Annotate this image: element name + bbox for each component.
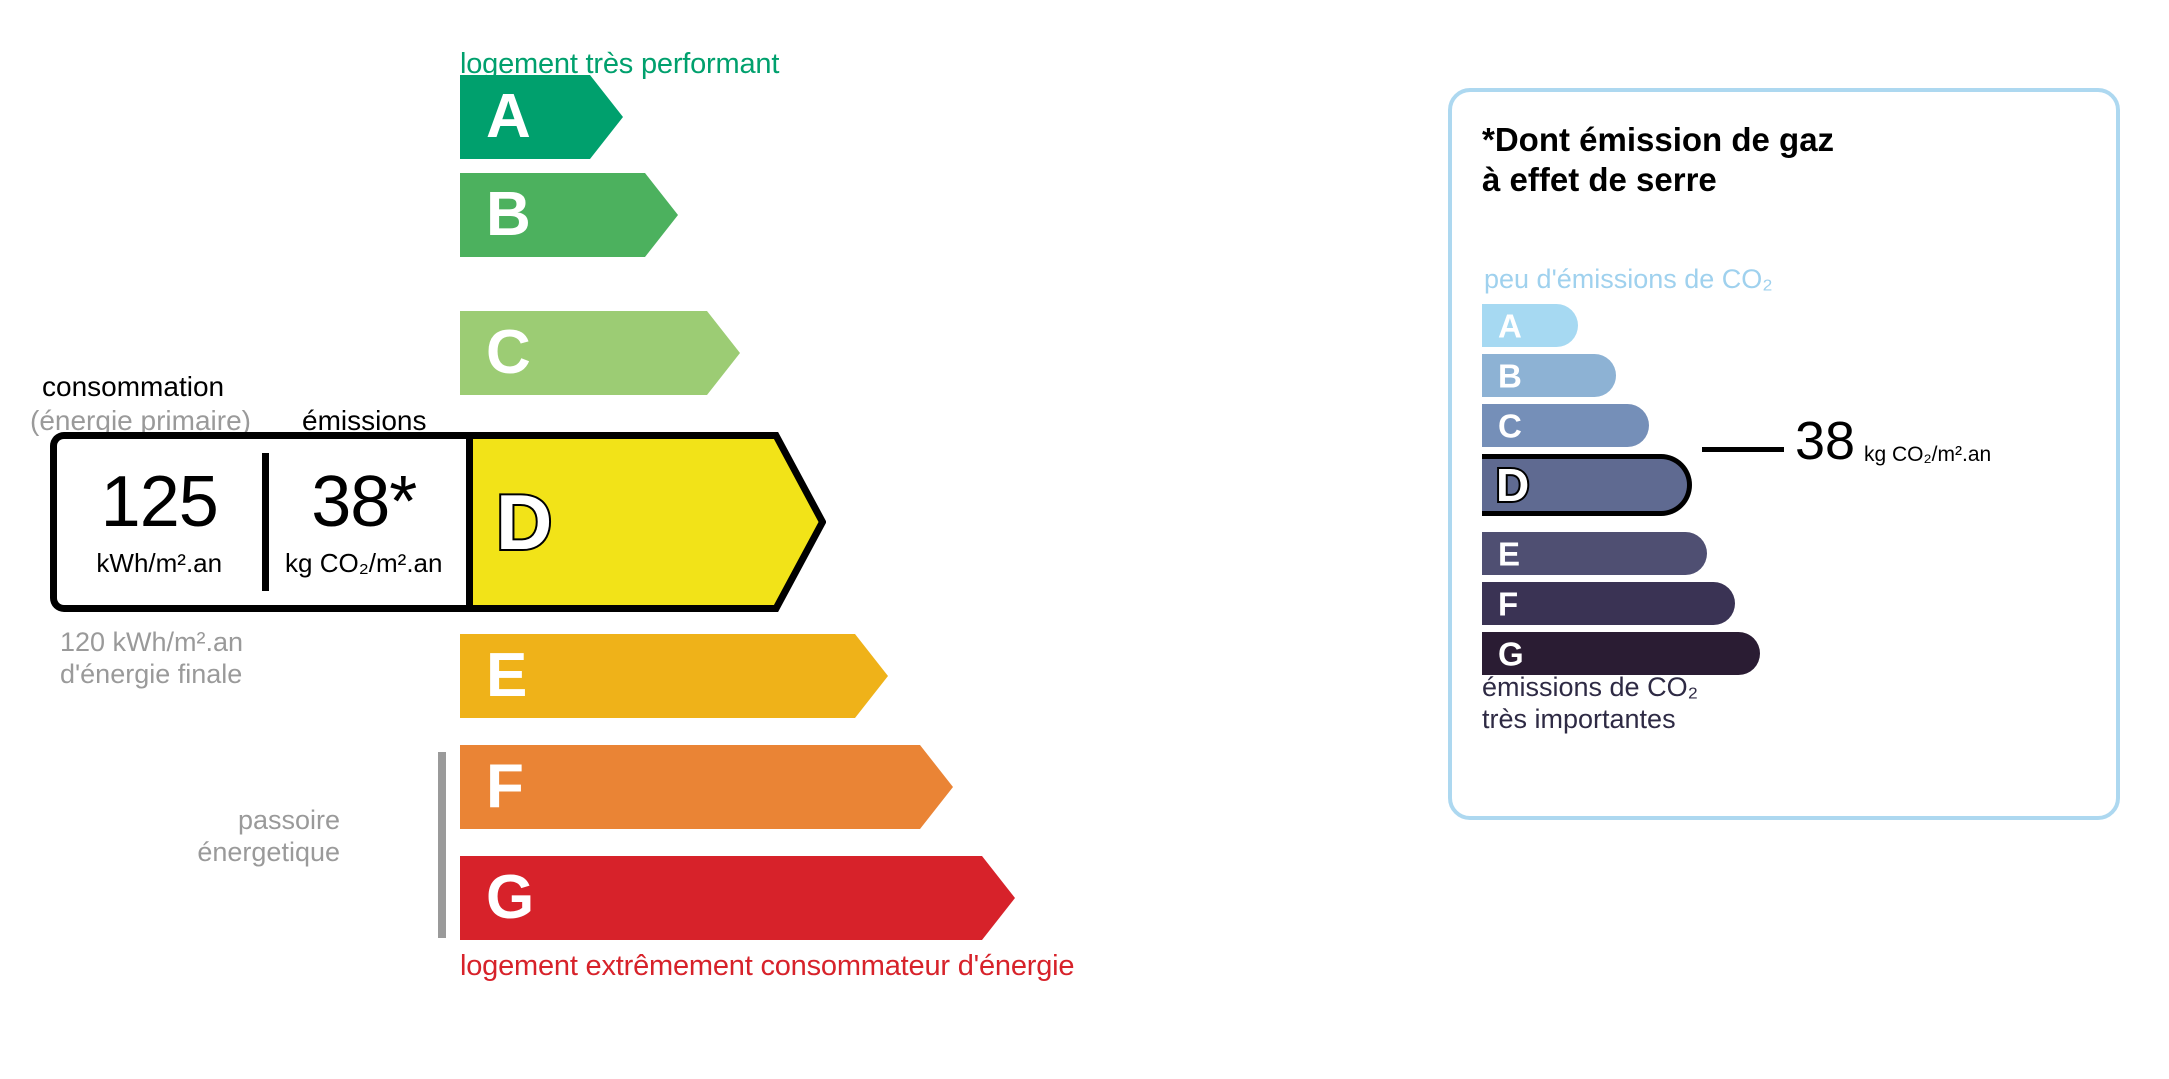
energy-performance-chart: logement très performant A B C [0, 0, 1400, 1079]
energie-finale-label: 120 kWh/m².and'énergie finale [60, 627, 243, 691]
emissions-value: 38* [311, 466, 416, 538]
energy-class-arrow-b: B [460, 173, 678, 257]
ges-class-row-g: G [1482, 632, 1760, 675]
energy-class-row-c: C [460, 311, 740, 395]
consumption-unit: kWh/m².an [96, 548, 222, 579]
ges-class-letter-f: F [1498, 587, 1518, 620]
energy-class-arrow-c: C [460, 311, 740, 395]
ges-class-letter-g: G [1498, 637, 1524, 670]
energy-class-row-b: B [460, 173, 678, 257]
ges-class-bar-c: C [1482, 404, 1649, 447]
emissions-value-cell: 38* kg CO₂/m².an [262, 439, 467, 605]
ges-class-bar-e: E [1482, 532, 1707, 575]
ges-class-bar-a: A [1482, 304, 1578, 347]
energy-class-row-g: G [460, 856, 1015, 940]
ges-class-bar-b: B [1482, 354, 1616, 397]
ges-best-caption: peu d'émissions de CO₂ [1484, 264, 1773, 295]
ges-class-bar-d: D [1482, 454, 1692, 516]
energy-class-row-f: F [460, 745, 953, 829]
energy-class-arrow-d-selected: D [466, 432, 826, 612]
ges-class-letter-a: A [1498, 309, 1522, 342]
passoire-energetique-label: passoireénergetique [180, 805, 340, 869]
ges-class-letter-d: D [1496, 462, 1529, 508]
ges-class-bar-f: F [1482, 582, 1735, 625]
ges-value-leader-line [1702, 447, 1784, 452]
energy-class-arrow-a: A [460, 75, 623, 159]
ges-class-row-d-selected: D [1482, 454, 1692, 516]
ges-panel-title: *Dont émission de gazà effet de serre [1482, 120, 1834, 199]
ges-class-letter-c: C [1498, 409, 1522, 442]
ges-class-letter-e: E [1498, 537, 1520, 570]
ges-class-row-a: A [1482, 304, 1578, 347]
ges-class-bar-g: G [1482, 632, 1760, 675]
ges-class-row-c: C [1482, 404, 1649, 447]
consumption-value-cell: 125 kWh/m².an [57, 439, 262, 605]
energy-class-arrow-f: F [460, 745, 953, 829]
ges-worst-caption: émissions de CO₂très importantes [1482, 672, 1698, 736]
energy-class-arrow-e: E [460, 634, 888, 718]
emissions-unit: kg CO₂/m².an [285, 548, 442, 579]
consommation-label: consommation [42, 371, 224, 403]
ges-class-row-e: E [1482, 532, 1707, 575]
ges-class-row-b: B [1482, 354, 1616, 397]
energy-class-arrow-g: G [460, 856, 1015, 940]
energy-worst-caption: logement extrêmement consommateur d'éner… [460, 950, 1074, 983]
ges-value: 38 [1795, 414, 1855, 468]
consumption-value: 125 [101, 466, 218, 538]
energy-value-box: 125 kWh/m².an 38* kg CO₂/m².an [50, 432, 466, 612]
ges-class-row-f: F [1482, 582, 1735, 625]
passoire-energetique-marker [438, 752, 446, 938]
energy-class-row-e: E [460, 634, 888, 718]
ges-emissions-panel: *Dont émission de gazà effet de serre pe… [1448, 88, 2120, 820]
ges-class-letter-b: B [1498, 359, 1522, 392]
ges-value-unit: kg CO₂/m².an [1864, 443, 1991, 467]
energy-class-row-a: A [460, 75, 623, 159]
